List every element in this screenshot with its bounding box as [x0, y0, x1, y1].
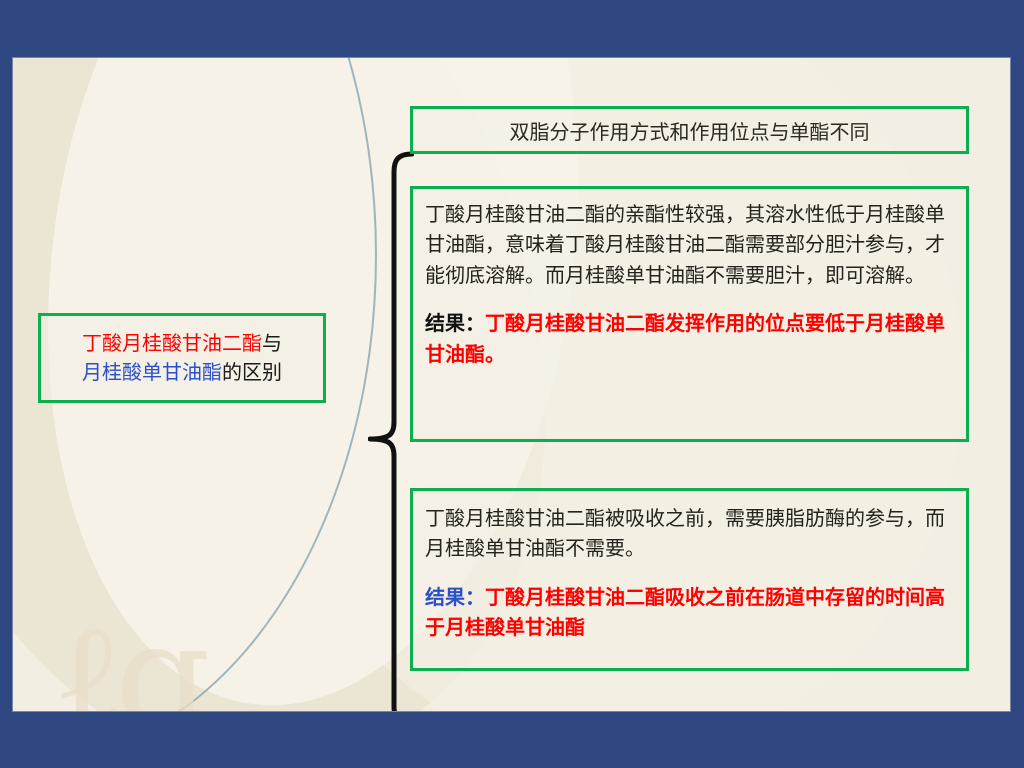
left-topic-line1-red: 丁酸月桂酸甘油二酯 [82, 331, 262, 355]
content-box-one: 丁酸月桂酸甘油二酯的亲酯性较强，其溶水性低于月桂酸单甘油酯，意味着丁酸月桂酸甘油… [410, 186, 969, 442]
decorative-watermark-letter: ℓg [53, 603, 201, 711]
left-topic-label-box: 丁酸月桂酸甘油二酯与 月桂酸单甘油酯的区别 [38, 313, 326, 403]
title-statement-box: 双脂分子作用方式和作用位点与单酯不同 [410, 106, 969, 154]
content-box-one-result-label: 结果： [425, 311, 485, 335]
content-box-two-spacer [425, 564, 954, 582]
title-statement-text: 双脂分子作用方式和作用位点与单酯不同 [510, 116, 870, 145]
content-box-two-result-label: 结果： [425, 585, 485, 609]
content-box-one-spacer [425, 290, 954, 308]
brace-connector [368, 150, 414, 711]
content-box-two-paragraph: 丁酸月桂酸甘油二酯被吸收之前，需要胰脂肪酶的参与，而月桂酸单甘油酯不需要。 [425, 503, 954, 564]
slide-frame: ℓg 丁酸月桂酸甘油二酯与 月桂酸单甘油酯的区别 双脂分子作用方式和作用位点与单… [0, 0, 1024, 768]
brace-connector-icon [368, 150, 414, 711]
content-box-one-paragraph: 丁酸月桂酸甘油二酯的亲酯性较强，其溶水性低于月桂酸单甘油酯，意味着丁酸月桂酸甘油… [425, 199, 954, 290]
slide-content-panel: ℓg 丁酸月桂酸甘油二酯与 月桂酸单甘油酯的区别 双脂分子作用方式和作用位点与单… [13, 58, 1010, 711]
left-topic-label-text: 丁酸月桂酸甘油二酯与 月桂酸单甘油酯的区别 [82, 329, 282, 387]
content-box-two-result: 结果：丁酸月桂酸甘油二酯吸收之前在肠道中存留的时间高于月桂酸单甘油酯 [425, 582, 954, 643]
left-topic-line1-black: 与 [262, 331, 282, 355]
left-topic-line2-blue: 月桂酸单甘油酯 [82, 360, 222, 384]
left-topic-line2-black: 的区别 [222, 360, 282, 384]
content-box-one-result: 结果：丁酸月桂酸甘油二酯发挥作用的位点要低于月桂酸单甘油酯。 [425, 308, 954, 369]
content-box-two: 丁酸月桂酸甘油二酯被吸收之前，需要胰脂肪酶的参与，而月桂酸单甘油酯不需要。 结果… [410, 488, 969, 671]
content-box-two-result-text: 丁酸月桂酸甘油二酯吸收之前在肠道中存留的时间高于月桂酸单甘油酯 [425, 585, 945, 639]
left-topic-line-2: 月桂酸单甘油酯的区别 [82, 358, 282, 387]
left-topic-line-1: 丁酸月桂酸甘油二酯与 [82, 329, 282, 358]
content-box-one-result-text: 丁酸月桂酸甘油二酯发挥作用的位点要低于月桂酸单甘油酯。 [425, 311, 945, 365]
